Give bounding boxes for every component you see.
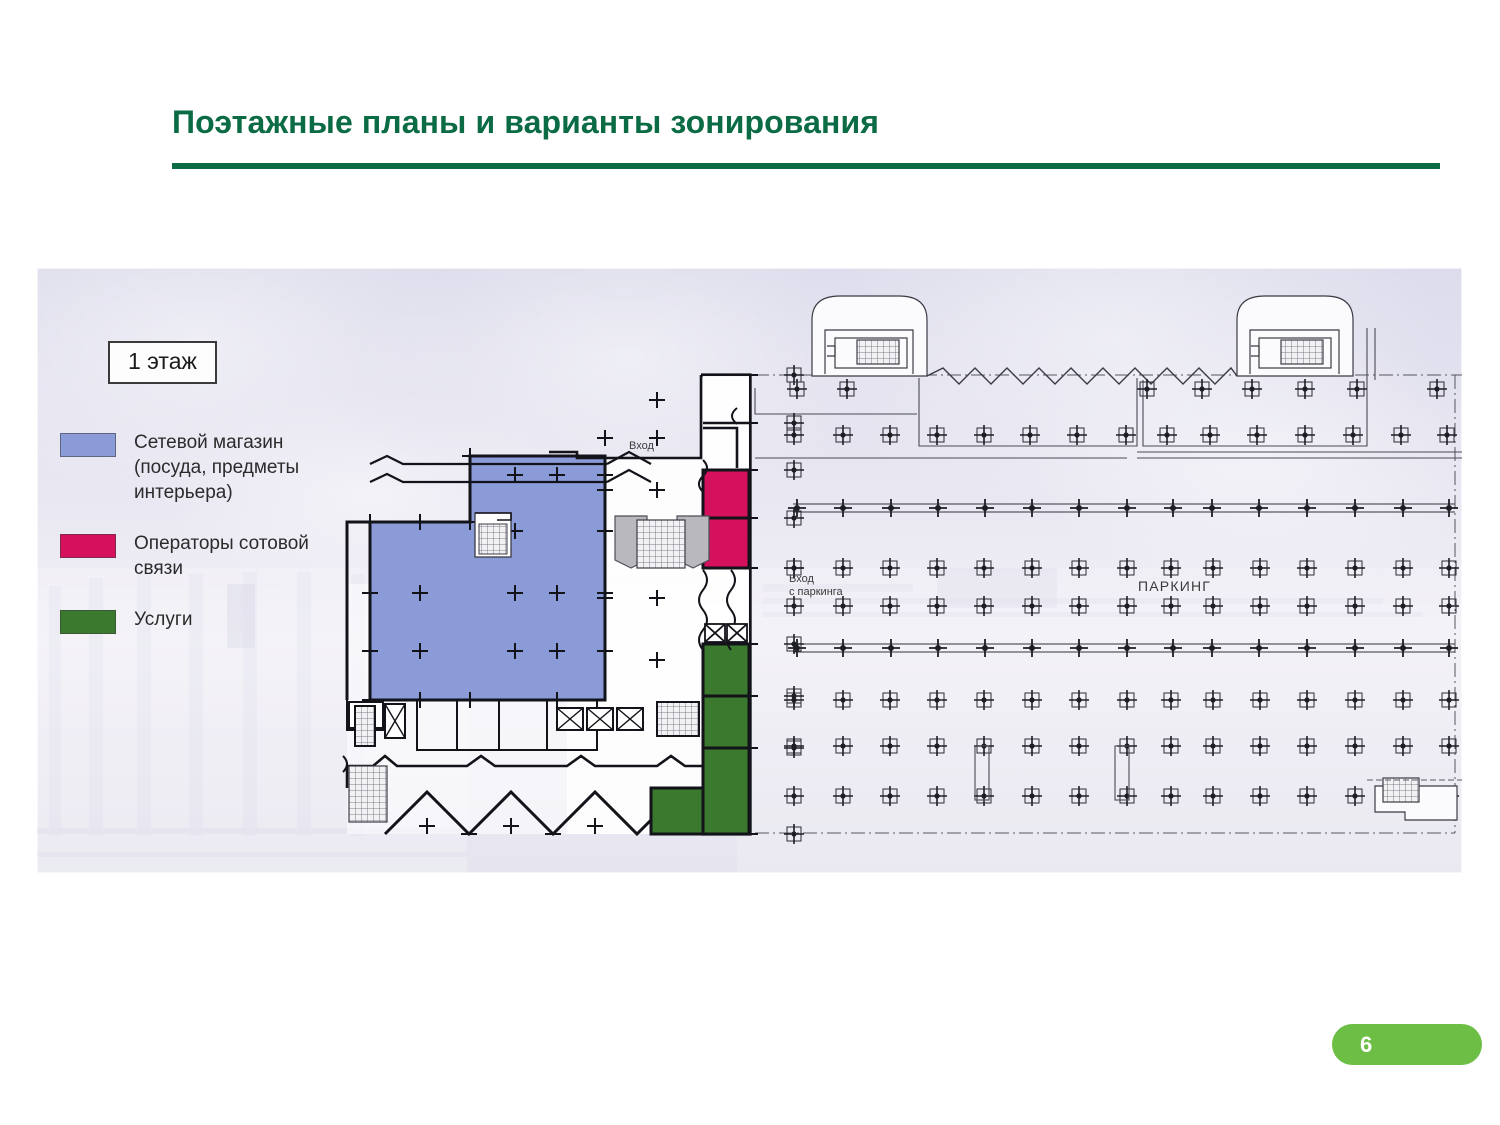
title-underline xyxy=(172,163,1440,169)
zone-mobile-operators-b xyxy=(703,518,749,568)
floor-label-box[interactable]: 1 этаж xyxy=(108,341,217,384)
plan-label-entrance: Вход xyxy=(629,440,654,453)
zone-network-store xyxy=(370,456,605,700)
zone-services-b xyxy=(703,696,749,748)
legend-swatch-network-store xyxy=(60,433,116,457)
plan-label-entrance-parking-line2: с паркинга xyxy=(789,586,843,599)
plan-label-entrance-parking-line1: Вход xyxy=(789,573,814,586)
legend-swatch-mobile-operators xyxy=(60,534,116,558)
legend-item-network-store[interactable]: Сетевой магазин (посуда, предметы интерь… xyxy=(60,430,360,505)
zone-mobile-operators-a xyxy=(703,470,749,518)
legend-item-mobile-operators[interactable]: Операторы сотовой связи xyxy=(60,531,360,581)
zone-services-d xyxy=(651,788,703,834)
page-title: Поэтажные планы и варианты зонирования xyxy=(172,104,879,141)
legend-label-services: Услуги xyxy=(134,607,192,632)
legend-item-services[interactable]: Услуги xyxy=(60,607,360,634)
plan-label-parking: ПАРКИНГ xyxy=(1138,578,1211,594)
legend: Сетевой магазин (посуда, предметы интерь… xyxy=(60,430,360,660)
zone-services-a xyxy=(703,644,749,696)
legend-label-mobile-operators: Операторы сотовой связи xyxy=(134,531,360,581)
zone-services-c xyxy=(703,748,749,834)
floor-plan-panel[interactable]: Вход Вход с паркинга ПАРКИНГ 1 этаж Сете… xyxy=(37,268,1462,873)
legend-label-network-store: Сетевой магазин (посуда, предметы интерь… xyxy=(134,430,360,505)
page-number-badge: 6 xyxy=(1332,1024,1482,1065)
slide-root: Поэтажные планы и варианты зонирования xyxy=(0,0,1500,1125)
legend-swatch-services xyxy=(60,610,116,634)
